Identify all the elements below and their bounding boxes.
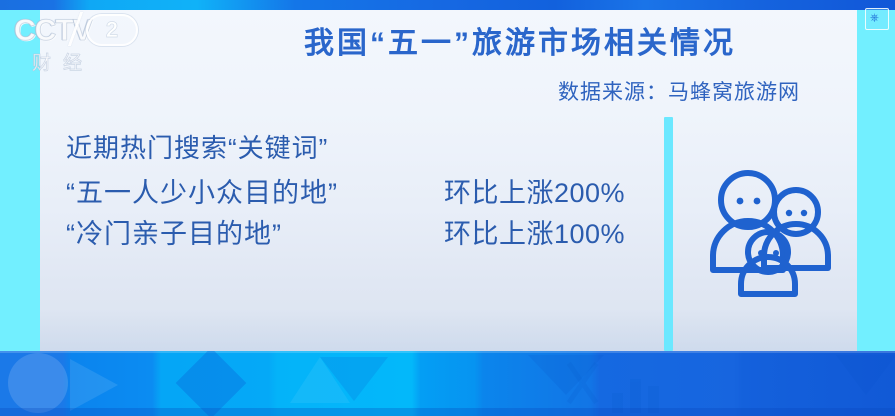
keyword-change-value: 环比上涨200% (444, 171, 625, 210)
broadcast-graphic-frame: CCTV 2 财经 我国“五一”旅游市场相关情况 数据来源：马蜂窝旅游网 近期热… (0, 0, 895, 416)
decor-triangle-far (836, 355, 895, 395)
people-group-icon (708, 168, 836, 298)
vertical-divider (664, 117, 673, 351)
bottom-bar-shade (0, 408, 895, 416)
decor-triangle-right (70, 359, 118, 411)
decor-diamond-shape (176, 351, 247, 416)
bottom-decorative-bar (0, 351, 895, 416)
cctv-channel-logo: CCTV 2 财经 (14, 12, 149, 82)
keyword-term: “冷门亲子目的地” (66, 212, 444, 251)
list-item: “五一人少小众目的地” 环比上涨200% (66, 171, 625, 210)
data-source-label: 数据来源：马蜂窝旅游网 (380, 76, 800, 106)
corner-watermark-icon: ⎈ (865, 8, 889, 30)
list-item: “冷门亲子目的地” 环比上涨100% (66, 212, 625, 251)
decor-cross-shape (560, 361, 604, 405)
corner-watermark-glyph: ⎈ (870, 12, 879, 24)
keyword-change-value: 环比上涨100% (444, 212, 625, 251)
cctv-channel-number: 2 (88, 17, 136, 43)
keyword-list: 近期热门搜索“关键词” “五一人少小众目的地” 环比上涨200% “冷门亲子目的… (66, 128, 625, 253)
bottom-bar-top-line (0, 351, 895, 353)
page-title: 我国“五一”旅游市场相关情况 (240, 18, 800, 62)
keyword-section-title: 近期热门搜索“关键词” (66, 128, 625, 165)
keyword-term: “五一人少小众目的地” (66, 171, 444, 210)
right-cyan-rail (857, 10, 895, 351)
top-accent-strip (0, 0, 895, 10)
decor-triangle-down (320, 357, 388, 401)
decor-circle-shape (8, 353, 68, 413)
decor-bars-shape (612, 371, 682, 413)
cctv-channel-number-badge: 2 (86, 14, 138, 46)
cctv-channel-subtitle: 财经 (32, 48, 94, 75)
